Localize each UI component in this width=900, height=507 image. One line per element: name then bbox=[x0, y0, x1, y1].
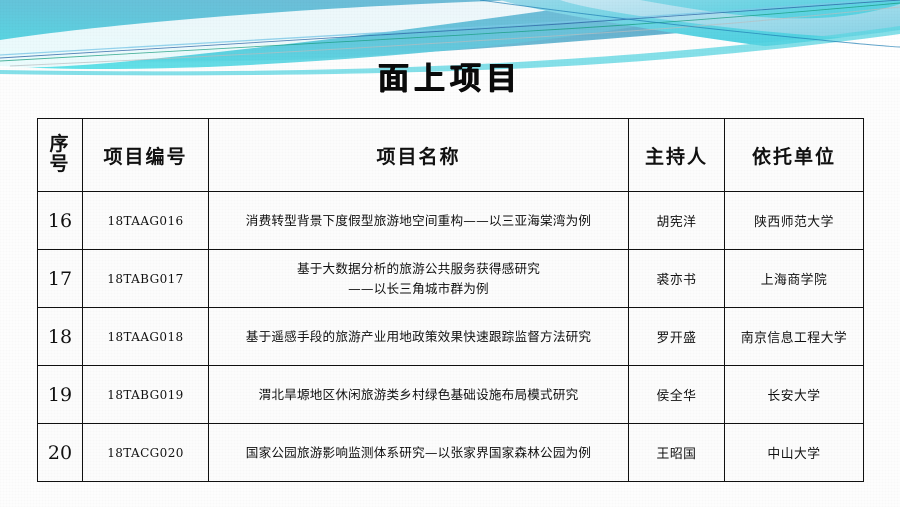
table-row: 2018TACG020国家公园旅游影响监测体系研究—以张家界国家森林公园为例王昭… bbox=[38, 424, 864, 482]
cell-sequence: 19 bbox=[38, 366, 83, 424]
project-name-line: 基于遥感手段的旅游产业用地政策效果快速跟踪监督方法研究 bbox=[213, 327, 624, 347]
column-header-org: 依托单位 bbox=[725, 119, 864, 192]
project-name-line: 基于大数据分析的旅游公共服务获得感研究 bbox=[213, 259, 624, 279]
column-header-sequence: 序 号 bbox=[38, 119, 83, 192]
table-header-row: 序 号 项目编号 项目名称 主持人 依托单位 bbox=[38, 119, 864, 192]
cell-project-code: 18TACG020 bbox=[83, 424, 209, 482]
column-header-sequence-char2: 号 bbox=[42, 155, 78, 175]
cell-organization: 南京信息工程大学 bbox=[725, 308, 864, 366]
project-table: 序 号 项目编号 项目名称 主持人 依托单位 1618TAAG016消费转型背景… bbox=[37, 118, 864, 482]
cell-leader: 胡宪洋 bbox=[629, 192, 725, 250]
column-header-code: 项目编号 bbox=[83, 119, 209, 192]
cell-project-name: 国家公园旅游影响监测体系研究—以张家界国家森林公园为例 bbox=[209, 424, 629, 482]
table-row: 1618TAAG016消费转型背景下度假型旅游地空间重构——以三亚海棠湾为例胡宪… bbox=[38, 192, 864, 250]
column-header-sequence-char1: 序 bbox=[42, 135, 78, 155]
table-row: 1718TABG017基于大数据分析的旅游公共服务获得感研究——以长三角城市群为… bbox=[38, 250, 864, 308]
cell-organization: 长安大学 bbox=[725, 366, 864, 424]
cell-project-code: 18TABG019 bbox=[83, 366, 209, 424]
column-header-leader: 主持人 bbox=[629, 119, 725, 192]
cell-sequence: 20 bbox=[38, 424, 83, 482]
cell-sequence: 16 bbox=[38, 192, 83, 250]
cell-project-code: 18TABG017 bbox=[83, 250, 209, 308]
project-table-container: 序 号 项目编号 项目名称 主持人 依托单位 1618TAAG016消费转型背景… bbox=[37, 118, 863, 482]
cell-sequence: 17 bbox=[38, 250, 83, 308]
cell-project-name: 消费转型背景下度假型旅游地空间重构——以三亚海棠湾为例 bbox=[209, 192, 629, 250]
cell-leader: 侯全华 bbox=[629, 366, 725, 424]
cell-organization: 陕西师范大学 bbox=[725, 192, 864, 250]
table-row: 1818TAAG018基于遥感手段的旅游产业用地政策效果快速跟踪监督方法研究罗开… bbox=[38, 308, 864, 366]
slide-canvas: 面上项目 序 号 项目编号 项目名称 主持人 依托单位 1618TAAG016消… bbox=[0, 0, 900, 507]
cell-organization: 中山大学 bbox=[725, 424, 864, 482]
cell-project-code: 18TAAG018 bbox=[83, 308, 209, 366]
column-header-name: 项目名称 bbox=[209, 119, 629, 192]
project-name-line: 国家公园旅游影响监测体系研究—以张家界国家森林公园为例 bbox=[213, 443, 624, 463]
cell-project-code: 18TAAG016 bbox=[83, 192, 209, 250]
cell-project-name: 渭北旱塬地区休闲旅游类乡村绿色基础设施布局模式研究 bbox=[209, 366, 629, 424]
page-title: 面上项目 bbox=[0, 62, 900, 96]
cell-project-name: 基于遥感手段的旅游产业用地政策效果快速跟踪监督方法研究 bbox=[209, 308, 629, 366]
table-row: 1918TABG019渭北旱塬地区休闲旅游类乡村绿色基础设施布局模式研究侯全华长… bbox=[38, 366, 864, 424]
cell-leader: 王昭国 bbox=[629, 424, 725, 482]
cell-project-name: 基于大数据分析的旅游公共服务获得感研究——以长三角城市群为例 bbox=[209, 250, 629, 308]
cell-leader: 裘亦书 bbox=[629, 250, 725, 308]
cell-organization: 上海商学院 bbox=[725, 250, 864, 308]
project-name-line: 消费转型背景下度假型旅游地空间重构——以三亚海棠湾为例 bbox=[213, 211, 624, 231]
cell-leader: 罗开盛 bbox=[629, 308, 725, 366]
project-name-line: ——以长三角城市群为例 bbox=[213, 279, 624, 299]
cell-sequence: 18 bbox=[38, 308, 83, 366]
project-name-line: 渭北旱塬地区休闲旅游类乡村绿色基础设施布局模式研究 bbox=[213, 385, 624, 405]
